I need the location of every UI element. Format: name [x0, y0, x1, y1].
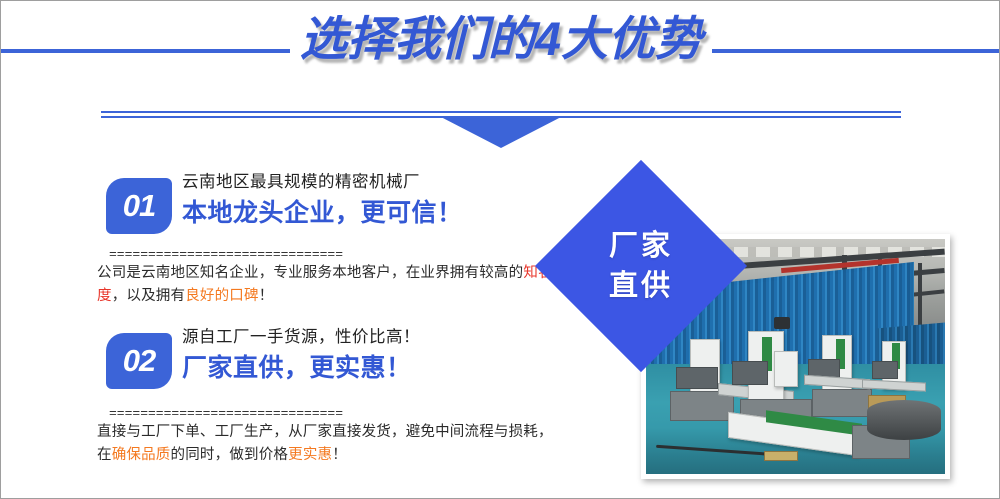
- feature-01-body-seg1: 公司是云南地区知名企业，专业服务本地客户，在业界拥有较高的: [97, 265, 523, 281]
- feature-01-body: 公司是云南地区知名企业，专业服务本地客户，在业界拥有较高的知名度，以及拥有良好的…: [97, 262, 562, 308]
- feature-item-01: 01 云南地区最具规模的精密机械厂 本地龙头企业，更可信！ ==========…: [1, 161, 561, 316]
- feature-01-texts: 云南地区最具规模的精密机械厂 本地龙头企业，更可信！: [182, 171, 552, 230]
- banner-header: 选择我们的4大优势: [1, 1, 1000, 101]
- feature-01-title: 本地龙头企业，更可信！: [182, 196, 552, 230]
- photo-machine-head-d: [872, 361, 898, 379]
- photo-machine-head-b: [732, 361, 768, 385]
- photo-wall-lamp: [774, 317, 790, 329]
- section-divider: [101, 111, 901, 151]
- feature-01-head: 01 云南地区最具规模的精密机械厂 本地龙头企业，更可信！: [1, 161, 561, 223]
- feature-01-body-highlight-2: 良好的口碑: [185, 288, 259, 304]
- feature-01-number-badge: 01: [106, 178, 172, 234]
- down-triangle-icon: [439, 116, 563, 148]
- feature-02-body-highlight-1: 确保品质: [112, 447, 171, 463]
- photo-column-3: [918, 263, 922, 329]
- feature-01-body-seg3: ！: [259, 288, 274, 304]
- page-title: 选择我们的4大优势: [1, 7, 1000, 71]
- feature-01-dashed-rule: ==============================: [109, 249, 549, 260]
- feature-02-number-badge: 02: [106, 333, 172, 389]
- feature-02-body-highlight-2: 更实惠: [288, 447, 332, 463]
- feature-02-texts: 源自工厂一手货源，性价比高！ 厂家直供，更实惠！: [182, 326, 552, 385]
- photo-machine-base-c: [812, 389, 872, 417]
- feature-02-dashed-rule: ==============================: [109, 408, 549, 419]
- feature-02-body-seg3: ！: [332, 447, 347, 463]
- feature-01-body-seg2: ，以及拥有: [112, 288, 186, 304]
- promo-banner: 选择我们的4大优势 01 云南地区最具规模的精密机械厂 本地龙头企业，更可信！ …: [0, 0, 1000, 499]
- photo-timber-plank: [764, 451, 798, 461]
- feature-02-title: 厂家直供，更实惠！: [182, 351, 552, 385]
- feature-01-subtitle: 云南地区最具规模的精密机械厂: [182, 171, 552, 193]
- photo-steel-pipe: [867, 400, 941, 440]
- page-title-text: 选择我们的4大优势: [290, 7, 712, 71]
- feature-02-subtitle: 源自工厂一手货源，性价比高！: [182, 326, 552, 348]
- photo-machine-head-a: [676, 367, 718, 389]
- feature-02-head: 02 源自工厂一手货源，性价比高！ 厂家直供，更实惠！: [1, 316, 561, 378]
- photo-machine-side-b: [774, 351, 798, 387]
- divider-line-top: [101, 111, 901, 113]
- features-column: 01 云南地区最具规模的精密机械厂 本地龙头企业，更可信！ ==========…: [1, 161, 561, 496]
- feature-item-02: 02 源自工厂一手货源，性价比高！ 厂家直供，更实惠！ ============…: [1, 316, 561, 476]
- feature-02-body-seg2: 的同时，做到价格: [171, 447, 289, 463]
- feature-02-body: 直接与工厂下单、工厂生产，从厂家直接发货，避免中间流程与损耗，在确保品质的同时，…: [97, 421, 562, 467]
